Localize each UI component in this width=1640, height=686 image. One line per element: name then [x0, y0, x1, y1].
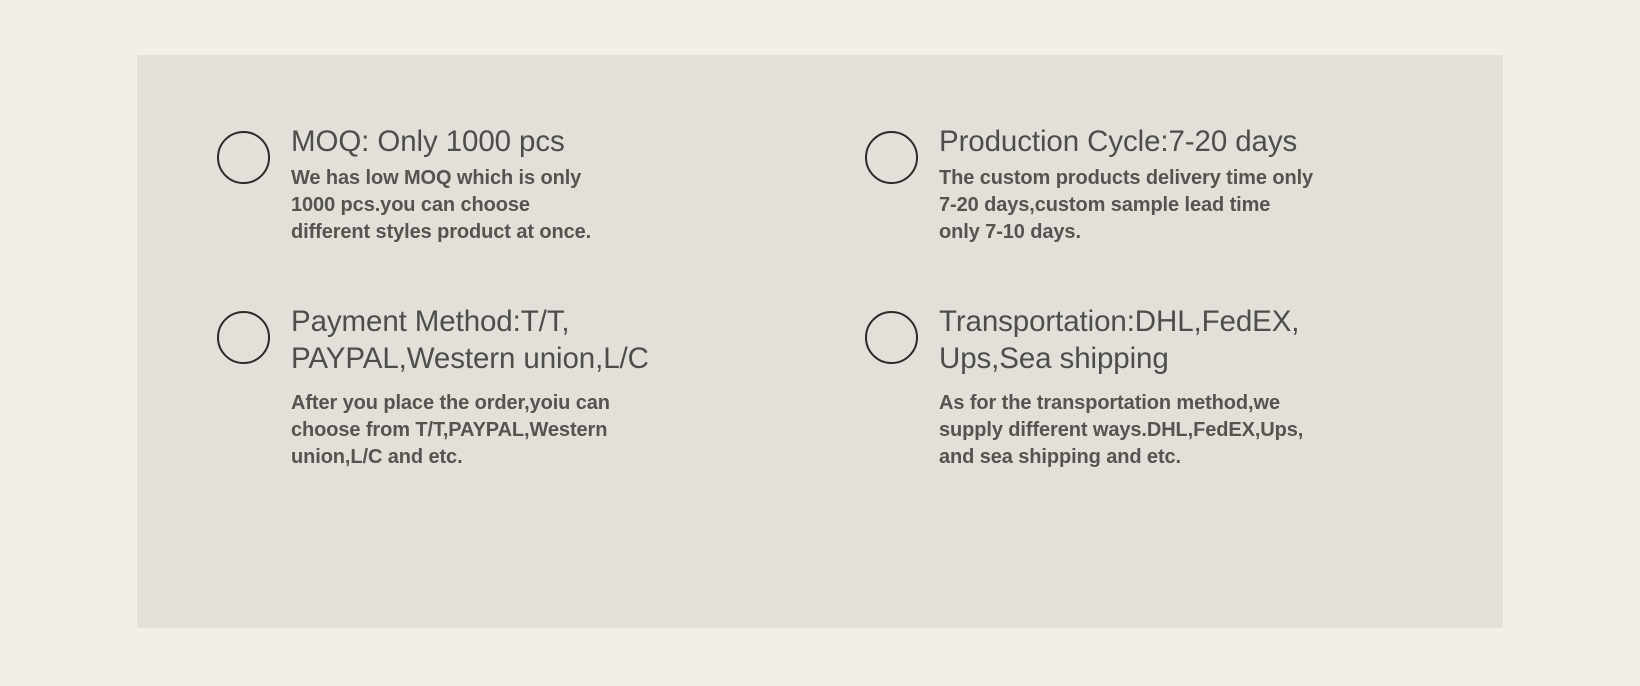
- feature-description: As for the transportation method,we supp…: [939, 390, 1485, 471]
- features-grid: MOQ: Only 1000 pcs We has low MOQ which …: [137, 55, 1503, 628]
- feature-title: Payment Method:T/T, PAYPAL,Western union…: [291, 303, 817, 377]
- feature-description: We has low MOQ which is only 1000 pcs.yo…: [291, 165, 817, 246]
- circle-outline-icon: [217, 131, 270, 184]
- circle-outline-icon: [865, 131, 918, 184]
- feature-card-moq: MOQ: Only 1000 pcs We has low MOQ which …: [217, 123, 817, 246]
- feature-title: Transportation:DHL,FedEX, Ups,Sea shippi…: [939, 303, 1485, 377]
- feature-description: The custom products delivery time only 7…: [939, 165, 1485, 246]
- features-panel: MOQ: Only 1000 pcs We has low MOQ which …: [137, 55, 1503, 628]
- feature-text-block: Production Cycle:7-20 days The custom pr…: [939, 123, 1485, 246]
- feature-title: MOQ: Only 1000 pcs: [291, 123, 817, 161]
- circle-outline-icon: [865, 311, 918, 364]
- circle-outline-icon: [217, 311, 270, 364]
- feature-card-production-cycle: Production Cycle:7-20 days The custom pr…: [865, 123, 1485, 246]
- feature-text-block: MOQ: Only 1000 pcs We has low MOQ which …: [291, 123, 817, 246]
- page-root: MOQ: Only 1000 pcs We has low MOQ which …: [0, 0, 1640, 686]
- feature-text-block: Transportation:DHL,FedEX, Ups,Sea shippi…: [939, 303, 1485, 471]
- feature-description: After you place the order,yoiu can choos…: [291, 390, 817, 471]
- feature-card-payment-method: Payment Method:T/T, PAYPAL,Western union…: [217, 303, 817, 471]
- feature-text-block: Payment Method:T/T, PAYPAL,Western union…: [291, 303, 817, 471]
- feature-title: Production Cycle:7-20 days: [939, 123, 1485, 161]
- feature-card-transportation: Transportation:DHL,FedEX, Ups,Sea shippi…: [865, 303, 1485, 471]
